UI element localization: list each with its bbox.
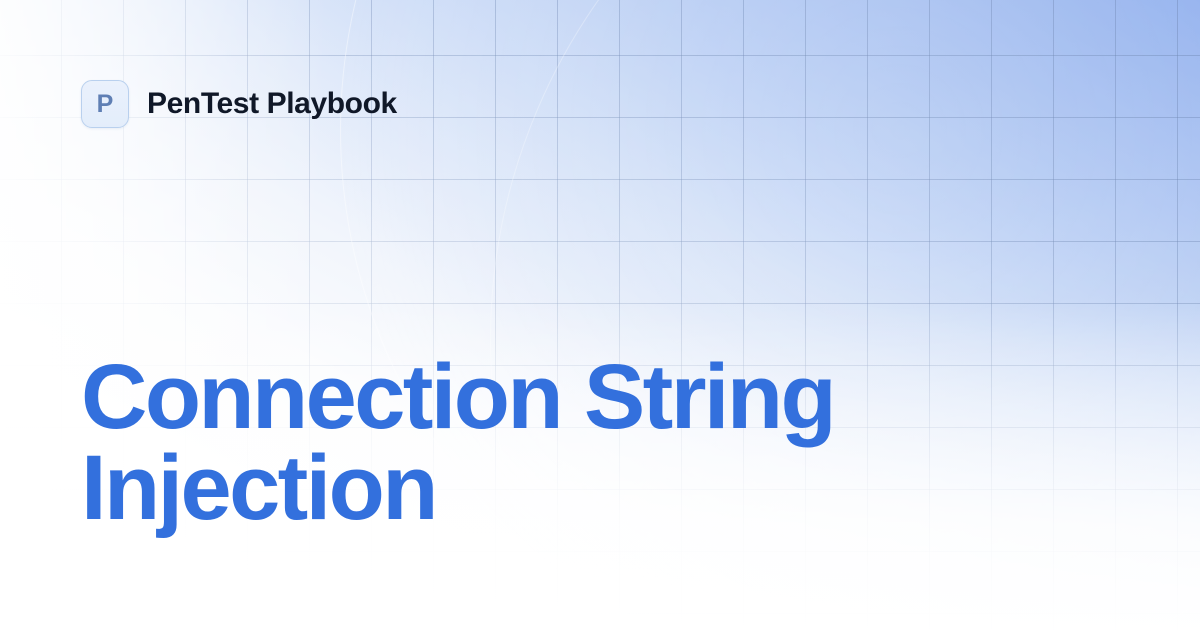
brand-logo-badge: P bbox=[81, 80, 129, 128]
page-title-line-2: Injection bbox=[81, 443, 981, 534]
social-card: P PenTest Playbook Connection String Inj… bbox=[0, 0, 1200, 630]
brand-lockup: P PenTest Playbook bbox=[81, 80, 397, 128]
brand-logo-letter-icon: P bbox=[97, 92, 114, 117]
page-title-line-1: Connection String bbox=[81, 352, 981, 443]
card-content: P PenTest Playbook Connection String Inj… bbox=[0, 0, 1200, 630]
brand-name: PenTest Playbook bbox=[147, 89, 397, 119]
page-title: Connection String Injection bbox=[81, 352, 981, 534]
